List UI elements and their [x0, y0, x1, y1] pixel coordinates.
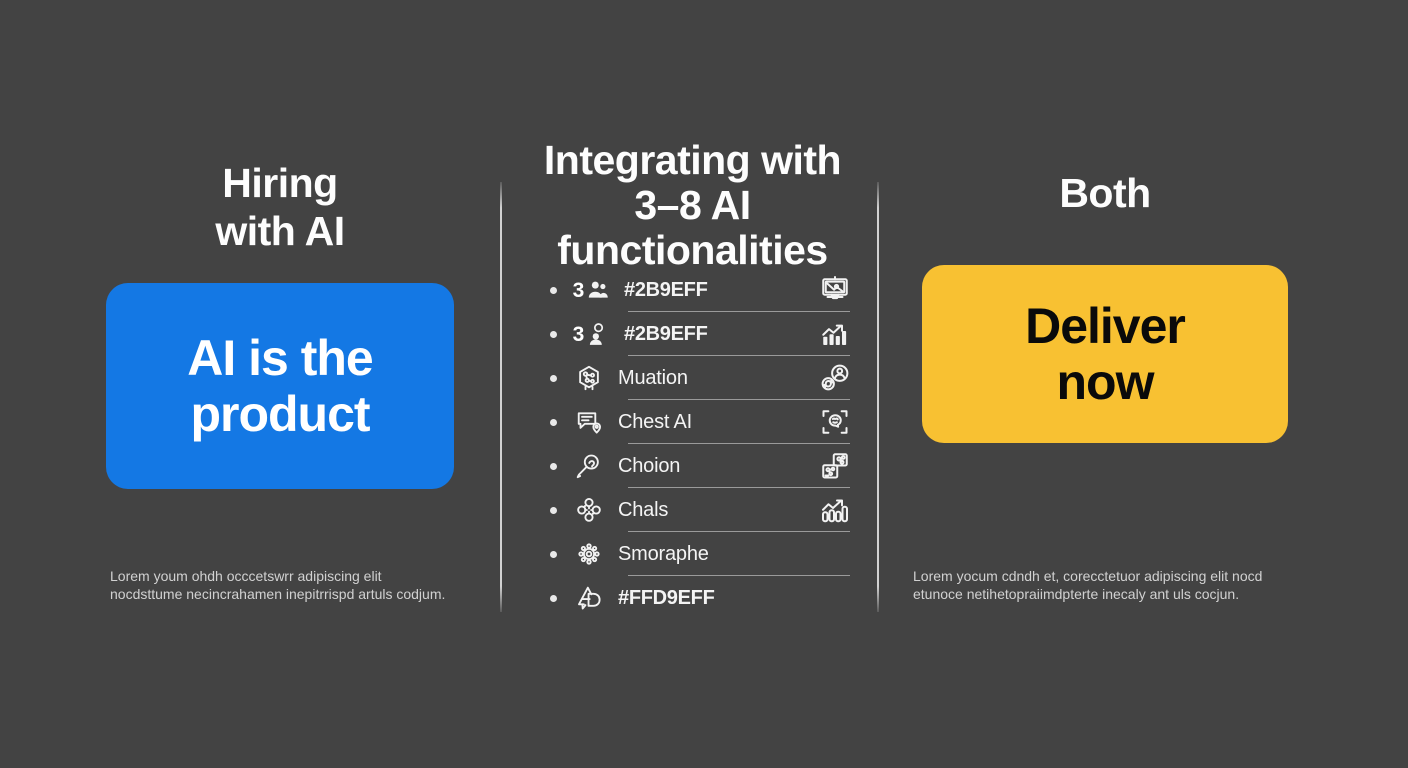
feature-row[interactable]: Chest AI [550, 400, 850, 444]
heading-mid-line1: Integrating with [510, 138, 875, 183]
bullet-dot [550, 287, 557, 294]
feature-label: #2B9EFF [624, 279, 820, 302]
column-divider-right [877, 182, 879, 612]
ad-triangle-icon [574, 583, 604, 613]
column-middle-heading: Integrating with 3–8 AI functionalities [510, 138, 875, 273]
bullet-dot [550, 507, 557, 514]
user-circles-icon[interactable] [820, 363, 850, 393]
bullet-dot [550, 595, 557, 602]
outline-bar-chart-icon[interactable] [820, 495, 850, 525]
cluster-nodes-icon [574, 495, 604, 525]
feature-row[interactable]: 3#2B9EFF [550, 268, 850, 312]
whiteboard-presentation-icon[interactable] [820, 275, 850, 305]
bullet-dot [550, 419, 557, 426]
yellow-card-line2: now [1025, 354, 1185, 410]
bullet-dot [550, 463, 557, 470]
bullet-dot [550, 331, 557, 338]
feature-row[interactable]: Smoraphe [550, 532, 850, 576]
chat-location-icon [574, 407, 604, 437]
person-badge-icon-glyph [585, 321, 611, 347]
left-caption: Lorem youm ohdh occcetswrr adipiscing el… [110, 568, 450, 604]
yellow-card-line1: Deliver [1025, 298, 1185, 354]
person-badge-icon: 3 [574, 319, 610, 349]
feature-label: Smoraphe [618, 543, 820, 566]
yellow-card-body: Deliver now [922, 265, 1288, 443]
feature-label: Chals [618, 499, 820, 522]
feature-lead-number: 3 [573, 280, 585, 301]
feature-label: Chest AI [618, 411, 820, 434]
column-middle: Integrating with 3–8 AI functionalities … [510, 0, 875, 768]
people-icon: 3 [574, 275, 610, 305]
feature-lead-number: 3 [573, 324, 585, 345]
feature-label: #FFD9EFF [618, 587, 820, 610]
heading-left-line1: Hiring [60, 160, 500, 208]
slide-canvas: Hiring with AI AI is the product Lorem y… [0, 0, 1408, 768]
heading-mid-line2: 3–8 AI [510, 183, 875, 228]
blue-card-line2: product [187, 386, 372, 442]
right-caption: Lorem yocum cdndh et, corecctetuor adipi… [913, 568, 1283, 604]
blue-card-line1: AI is the [187, 330, 372, 386]
feature-row[interactable]: 3#2B9EFF [550, 312, 850, 356]
feature-row[interactable]: Muation [550, 356, 850, 400]
bullet-dot [550, 551, 557, 558]
stacked-cards-icon[interactable] [820, 451, 850, 481]
hexagon-network-icon [574, 363, 604, 393]
magnifier-tool-icon [574, 451, 604, 481]
column-left-heading: Hiring with AI [60, 160, 500, 255]
ai-functionality-list: 3#2B9EFF3#2B9EFFMuationChest AIChoionCha… [550, 268, 850, 620]
column-divider-left [500, 182, 502, 612]
heading-mid-line3: functionalities [510, 228, 875, 273]
yellow-speech-card[interactable]: Deliver now [885, 265, 1325, 443]
feature-row[interactable]: #FFD9EFF [550, 576, 850, 620]
gear-cog-icon [574, 539, 604, 569]
feature-label: Choion [618, 455, 820, 478]
feature-row[interactable]: Choion [550, 444, 850, 488]
people-icon-glyph [585, 277, 611, 303]
blue-speech-card[interactable]: AI is the product [60, 283, 500, 489]
feature-label: #2B9EFF [624, 323, 820, 346]
feature-row[interactable]: Chals [550, 488, 850, 532]
column-left: Hiring with AI AI is the product Lorem y… [60, 0, 500, 768]
heading-left-line2: with AI [60, 208, 500, 256]
framed-brain-icon[interactable] [820, 407, 850, 437]
bar-chart-growth-icon[interactable] [820, 319, 850, 349]
column-right-heading: Both [885, 170, 1325, 218]
bullet-dot [550, 375, 557, 382]
feature-label: Muation [618, 367, 820, 390]
blue-card-body: AI is the product [106, 283, 454, 489]
column-right: Both Deliver now Lorem yocum cdndh et, c… [885, 0, 1325, 768]
